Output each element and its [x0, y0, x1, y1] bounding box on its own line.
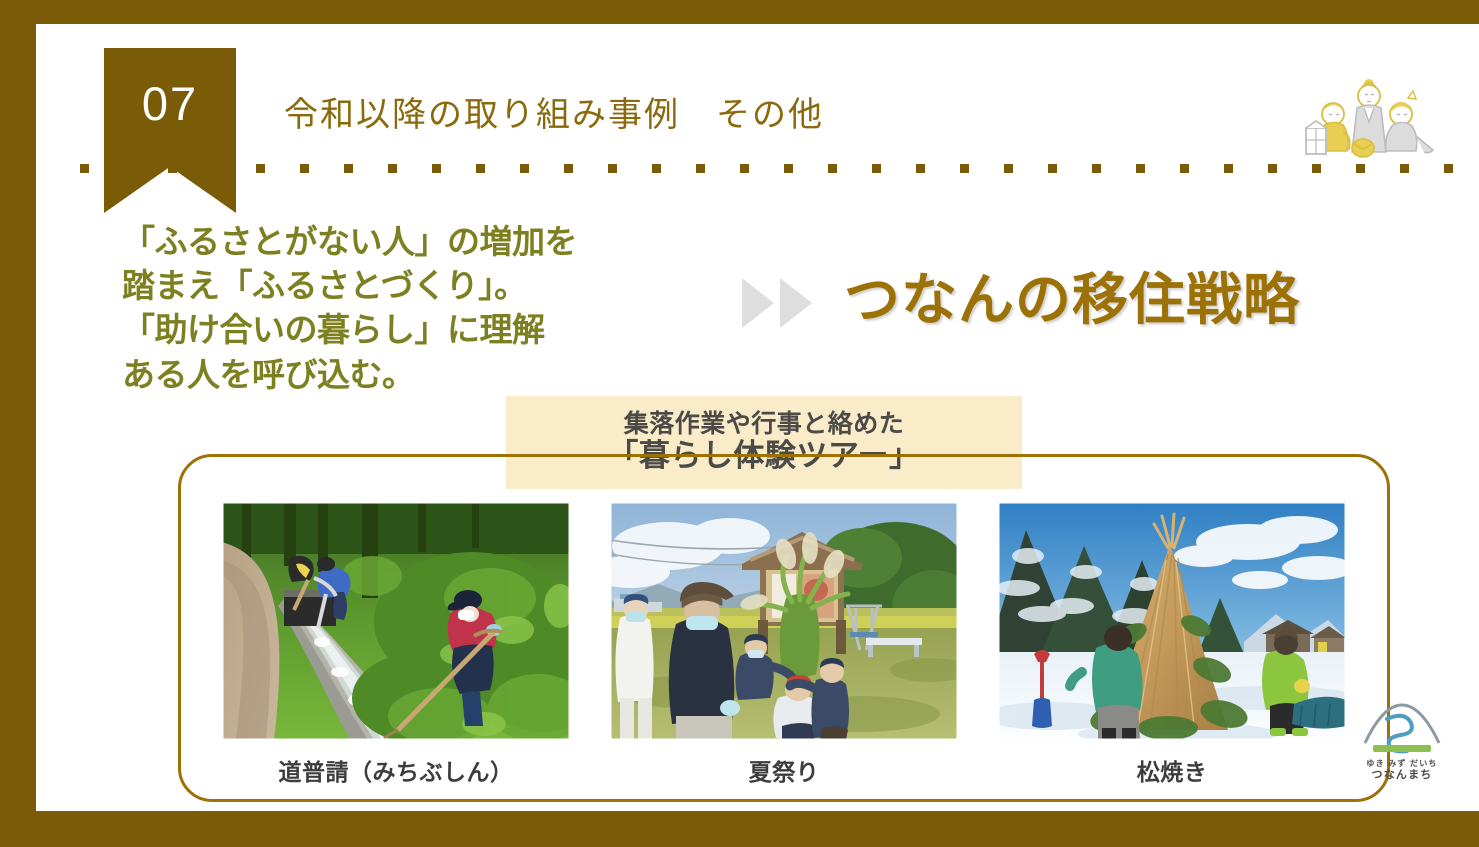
photo-cell: 松焼き	[998, 502, 1346, 787]
main-headline: つなんの移住戦略	[844, 272, 1300, 328]
town-logo-name: つなんまち	[1349, 769, 1455, 783]
page-title: 令和以降の取り組み事例 その他	[284, 87, 824, 136]
slide-card: 07 令和以降の取り組み事例 その他	[36, 24, 1479, 811]
town-logo-subtext: ゆき みず だいち	[1349, 759, 1455, 769]
slide: 07 令和以降の取り組み事例 その他	[0, 0, 1479, 847]
photo-group: 道普請（みちぶしん）	[178, 454, 1390, 802]
family-illustration-icon	[1297, 62, 1437, 170]
photo-cell: 道普請（みちぶしん）	[222, 502, 570, 787]
photo-michibushin	[222, 502, 570, 740]
double-chevron-right-icon	[736, 272, 822, 334]
section-number-label: 07	[104, 80, 236, 127]
photo-natsumatsuri	[610, 502, 958, 740]
highlight-banner-line1: 集落作業や行事と絡めた	[624, 411, 905, 439]
photo-cell: 夏祭り	[610, 502, 958, 787]
section-number-ribbon	[104, 48, 236, 213]
photo-caption: 松焼き	[1137, 753, 1208, 787]
photo-caption: 夏祭り	[749, 753, 820, 787]
photo-caption: 道普請（みちぶしん）	[279, 753, 514, 787]
lede-text: 「ふるさとがない人」の増加を 踏まえ「ふるさとづくり」。 「助け合いの暮らし」に…	[122, 220, 742, 397]
photo-matsuyaki	[998, 502, 1346, 740]
header-dotted-divider	[80, 164, 1455, 173]
town-logo: ゆき みず だいち つなんまち	[1349, 697, 1455, 789]
